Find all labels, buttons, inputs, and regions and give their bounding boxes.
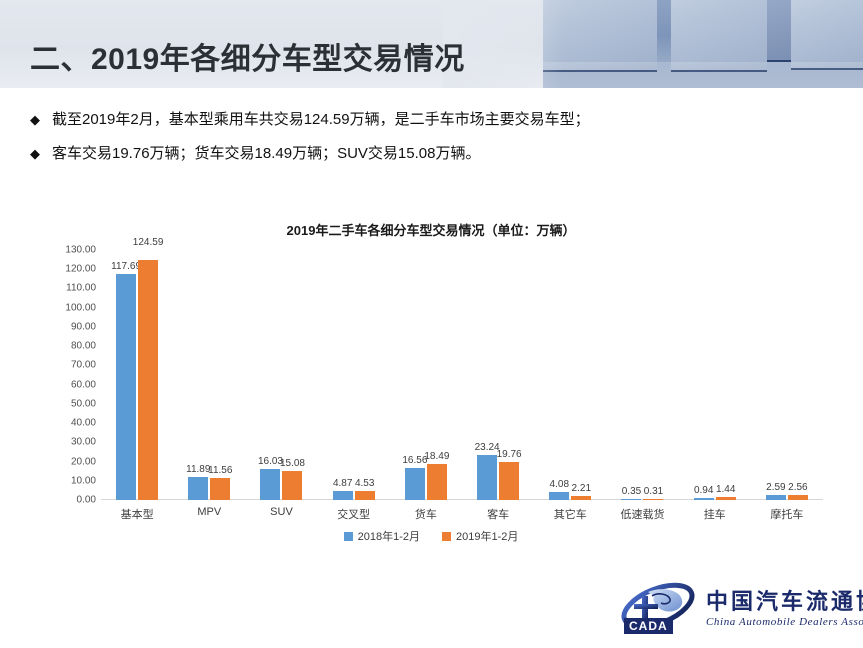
chart-bar-value-label: 1.44 (716, 484, 735, 495)
y-axis-tick-label: 10.00 (71, 475, 96, 486)
y-axis-tick-label: 20.00 (71, 456, 96, 467)
chart-bar[interactable]: 4.53 (355, 250, 375, 500)
chart-bar-value-label: 11.56 (208, 465, 232, 476)
chart-bar-rect: 2.59 (766, 495, 786, 500)
y-axis-tick-label: 50.00 (71, 398, 96, 409)
chart-bar-rect: 2.56 (788, 495, 808, 500)
chart-bar-value-label: 0.31 (644, 486, 663, 497)
chart-bar[interactable]: 18.49 (427, 250, 447, 500)
y-axis-tick-label: 100.00 (65, 302, 96, 313)
x-axis-tick-label: 交叉型 (337, 506, 370, 522)
chart-bar-rect: 124.59 (138, 260, 158, 500)
x-axis-tick-label: 基本型 (121, 506, 154, 522)
chart-bar-rect: 4.08 (549, 492, 569, 500)
chart-bar-value-label: 19.76 (497, 449, 522, 460)
cada-logo: CADA 中国汽车流通协会 China Automobile Dealers A… (618, 578, 850, 640)
y-axis-tick-label: 30.00 (71, 437, 96, 448)
list-item: ◆ 客车交易19.76万辆；货车交易18.49万辆；SUV交易15.08万辆。 (30, 144, 830, 164)
chart-bar[interactable]: 1.44 (716, 250, 736, 500)
chart-bar-group: 4.874.53交叉型 (318, 250, 390, 500)
chart-bar-group: 16.5618.49货车 (390, 250, 462, 500)
chart-bar[interactable]: 23.24 (477, 250, 497, 500)
chart-bar-value-label: 4.87 (333, 478, 352, 489)
logo-english-name: China Automobile Dealers Association (706, 616, 863, 628)
y-axis-tick-label: 60.00 (71, 379, 96, 390)
x-axis-tick-label: 其它车 (554, 506, 587, 522)
chart-bar[interactable]: 15.08 (282, 250, 302, 500)
y-axis-tick-label: 90.00 (71, 321, 96, 332)
chart-bar-value-label: 2.21 (572, 483, 591, 494)
chart-bar-rect: 15.08 (282, 471, 302, 500)
chart-bar[interactable]: 19.76 (499, 250, 519, 500)
chart-bar[interactable]: 4.87 (333, 250, 353, 500)
chart-bar[interactable]: 0.35 (621, 250, 641, 500)
chart-bar-rect: 4.53 (355, 491, 375, 500)
chart-bar[interactable]: 16.03 (260, 250, 280, 500)
chart-bar-rect: 16.56 (405, 468, 425, 500)
chart-bar-rect: 117.69 (116, 274, 136, 500)
x-axis-tick-label: 摩托车 (770, 506, 803, 522)
chart-bar-rect: 23.24 (477, 455, 497, 500)
chart-bar-value-label: 0.94 (694, 485, 713, 496)
chart-bar-value-label: 2.56 (788, 482, 807, 493)
chart-bar-value-label: 124.59 (133, 237, 164, 248)
chart-bar[interactable]: 2.21 (571, 250, 591, 500)
diamond-bullet-icon: ◆ (30, 110, 40, 130)
chart-bar[interactable]: 16.56 (405, 250, 425, 500)
diamond-bullet-icon: ◆ (30, 144, 40, 164)
x-axis-tick-label: SUV (270, 506, 293, 518)
bullet-text: 客车交易19.76万辆；货车交易18.49万辆；SUV交易15.08万辆。 (52, 144, 480, 164)
legend-swatch-icon (442, 532, 451, 541)
chart-bar-rect: 11.56 (210, 478, 230, 500)
slide-header: 二、2019年各细分车型交易情况 (0, 0, 863, 88)
chart-bar[interactable]: 0.31 (643, 250, 663, 500)
chart-bar-rect: 16.03 (260, 469, 280, 500)
y-axis-tick-labels: 130.00120.00110.00100.0090.0080.0070.006… (36, 250, 96, 500)
legend-swatch-icon (344, 532, 353, 541)
chart-plot-area: 117.69124.59基本型11.8911.56MPV16.0315.08SU… (101, 250, 823, 500)
x-axis-tick-label: 挂车 (704, 506, 726, 522)
chart-bar-value-label: 4.53 (355, 478, 374, 489)
y-axis-tick-label: 0.00 (77, 495, 96, 506)
chart-bar-rect: 11.89 (188, 477, 208, 500)
chart-bar-value-label: 2.59 (766, 482, 785, 493)
chart-bar-group: 117.69124.59基本型 (101, 250, 173, 500)
chart-bar-value-label: 117.69 (111, 261, 141, 272)
y-axis-tick-label: 110.00 (66, 283, 96, 294)
chart-bar-rect: 0.35 (621, 499, 641, 500)
chart-legend: 2018年1-2月2019年1-2月 (18, 528, 844, 544)
chart-bar[interactable]: 2.59 (766, 250, 786, 500)
chart-bar-value-label: 11.89 (186, 464, 210, 475)
chart-bar-group: 11.8911.56MPV (173, 250, 245, 500)
chart-bar-rect: 0.94 (694, 498, 714, 500)
list-item: ◆ 截至2019年2月，基本型乘用车共交易124.59万辆，是二手车市场主要交易… (30, 110, 830, 130)
chart-bar-group: 0.941.44挂车 (679, 250, 751, 500)
chart-bar[interactable]: 124.59 (138, 250, 158, 500)
chart-bar-value-label: 4.08 (550, 479, 569, 490)
chart-bar[interactable]: 11.56 (210, 250, 230, 500)
y-axis-tick-label: 130.00 (65, 245, 96, 256)
chart-title: 2019年二手车各细分车型交易情况（单位：万辆） (18, 220, 844, 239)
chart-bar-rect: 0.31 (643, 499, 663, 500)
legend-label: 2019年1-2月 (456, 528, 518, 544)
x-axis-tick-label: 客车 (487, 506, 509, 522)
logo-chinese-name: 中国汽车流通协会 (706, 584, 863, 616)
bullet-text: 截至2019年2月，基本型乘用车共交易124.59万辆，是二手车市场主要交易车型… (52, 110, 590, 130)
y-axis-tick-label: 40.00 (71, 418, 96, 429)
chart-bar-value-label: 15.08 (280, 458, 305, 469)
header-banner-image (543, 0, 863, 88)
chart-bar-rect: 1.44 (716, 497, 736, 500)
y-axis-tick-label: 70.00 (71, 360, 96, 371)
chart-bar-rect: 2.21 (571, 496, 591, 500)
chart-bar-group: 2.592.56摩托车 (751, 250, 823, 500)
chart-bar[interactable]: 117.69 (116, 250, 136, 500)
x-axis-tick-label: 货车 (415, 506, 437, 522)
x-axis-tick-label: MPV (197, 506, 221, 518)
banner-floor-sheen (543, 62, 863, 88)
x-axis-tick-label: 低速载货 (620, 506, 664, 522)
legend-label: 2018年1-2月 (358, 528, 420, 544)
y-axis-tick-label: 80.00 (71, 341, 96, 352)
chart-bar-group: 4.082.21其它车 (534, 250, 606, 500)
chart-bar[interactable]: 11.89 (188, 250, 208, 500)
page-title: 二、2019年各细分车型交易情况 (30, 34, 465, 78)
legend-item[interactable]: 2018年1-2月 (344, 528, 420, 544)
chart-bar-value-label: 18.49 (424, 451, 449, 462)
chart-bar-group: 23.2419.76客车 (462, 250, 534, 500)
chart-bar-rect: 18.49 (427, 464, 447, 500)
chart-bar[interactable]: 2.56 (788, 250, 808, 500)
legend-item[interactable]: 2019年1-2月 (442, 528, 518, 544)
logo-abbrev: CADA (624, 618, 673, 634)
chart-bar[interactable]: 4.08 (549, 250, 569, 500)
chart-bar-group: 16.0315.08SUV (245, 250, 317, 500)
chart-bar-rect: 19.76 (499, 462, 519, 500)
chart-bar[interactable]: 0.94 (694, 250, 714, 500)
bullet-list: ◆ 截至2019年2月，基本型乘用车共交易124.59万辆，是二手车市场主要交易… (30, 110, 830, 178)
chart-bar-rect: 4.87 (333, 491, 353, 500)
y-axis-tick-label: 120.00 (65, 264, 96, 275)
chart-bar-value-label: 0.35 (622, 486, 641, 497)
chart-bar-group: 0.350.31低速载货 (606, 250, 678, 500)
bar-chart: 2019年二手车各细分车型交易情况（单位：万辆） 130.00120.00110… (18, 210, 844, 555)
